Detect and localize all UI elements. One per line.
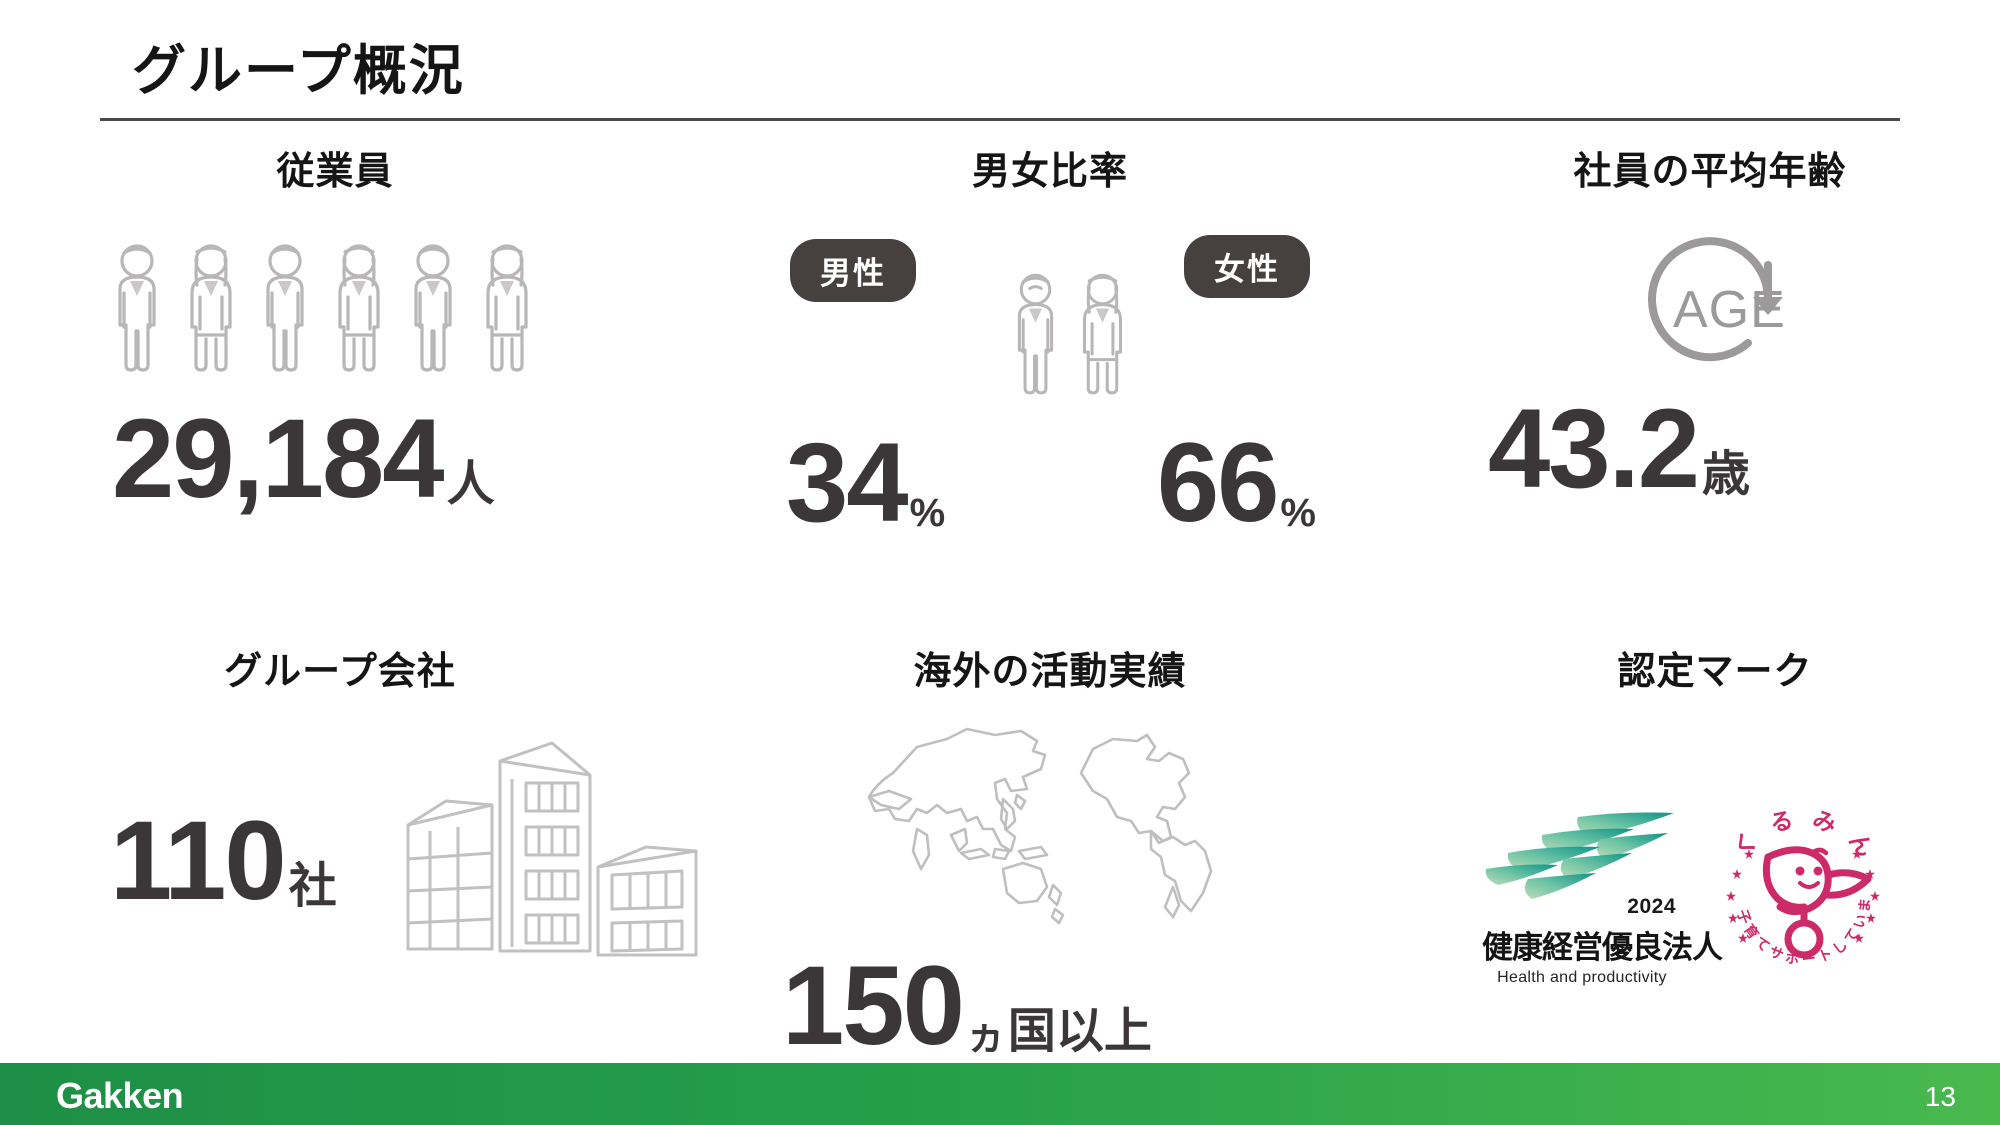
- svg-text:AGE: AGE: [1673, 281, 1786, 339]
- svg-text:くるみん: くるみん: [1728, 804, 1888, 875]
- person-male-icon: [404, 243, 462, 373]
- health-productivity-mark: 2024 健康経営優良法人 Health and productivity: [1482, 811, 1682, 987]
- male-value-group: 34 %: [786, 427, 943, 539]
- male-badge: 男性: [790, 239, 916, 302]
- average-age-unit: 歳: [1702, 451, 1750, 505]
- average-age-value: 43.2: [1488, 393, 1698, 505]
- slide-root: グループ概況 従業員: [0, 0, 2000, 1125]
- footer-bar: Gakken 13: [0, 1063, 2000, 1125]
- gender-ratio-heading: 男女比率: [972, 151, 1128, 193]
- group-companies-body: 110 社: [100, 717, 720, 967]
- person-male-icon: [256, 243, 314, 373]
- female-badge: 女性: [1184, 235, 1310, 298]
- age-icon-svg: AGE: [1618, 235, 1803, 365]
- overseas-unit: 国以上: [1008, 1008, 1152, 1062]
- metric-average-age: 社員の平均年齢 AGE 43.2 歳: [1470, 140, 1950, 505]
- metric-group-companies: グループ会社: [100, 640, 720, 967]
- gender-figures-area: 男性 女性: [760, 229, 1340, 419]
- person-female-icon: [182, 243, 240, 373]
- person-male-icon: [1008, 269, 1063, 401]
- gakken-logo: Gakken: [56, 1075, 183, 1117]
- health-mark-name-jp: 健康経営優良法人: [1482, 922, 1682, 967]
- person-female-icon: [330, 243, 388, 373]
- people-group-icon: [108, 243, 660, 373]
- metric-employees: 従業員: [100, 140, 660, 515]
- employees-value-group: 29,184 人: [112, 403, 660, 515]
- certifications-heading-wrap: 認定マーク: [1599, 640, 1830, 701]
- group-companies-value: 110: [110, 805, 285, 917]
- overseas-heading-wrap: 海外の活動実績: [895, 640, 1204, 701]
- page-number: 13: [1925, 1081, 1956, 1113]
- employees-unit: 人: [447, 461, 495, 515]
- age-circular-arrow-icon: AGE: [1470, 235, 1950, 365]
- overseas-value: 150: [782, 950, 963, 1062]
- group-companies-value-group: 110 社: [110, 805, 337, 917]
- metric-gender-ratio: 男女比率 男性 女性: [760, 140, 1340, 539]
- group-companies-unit: 社: [289, 863, 337, 917]
- person-male-icon: [108, 243, 166, 373]
- overseas-unit-counter: ヵ: [966, 1016, 1004, 1062]
- average-age-value-group: 43.2 歳: [1488, 393, 1950, 505]
- metric-overseas: 海外の活動実績: [760, 640, 1340, 1062]
- overseas-heading: 海外の活動実績: [913, 651, 1186, 693]
- certification-marks-row: 2024 健康経営優良法人 Health and productivity くる…: [1482, 797, 1960, 987]
- male-unit: %: [910, 493, 944, 539]
- employees-value: 29,184: [112, 403, 443, 515]
- employees-heading-wrap: 従業員: [258, 140, 411, 201]
- gender-ratio-heading-wrap: 男女比率: [954, 140, 1146, 201]
- person-female-icon: [1075, 269, 1130, 401]
- kurumin-mark: くるみん 子育てサポートしています: [1708, 797, 1898, 987]
- kurumin-baby-bird-logo: くるみん 子育てサポートしています: [1708, 797, 1898, 987]
- female-unit: %: [1280, 493, 1314, 539]
- employees-heading: 従業員: [276, 151, 393, 193]
- page-title: グループ概況: [132, 26, 465, 105]
- group-companies-heading-wrap: グループ会社: [206, 640, 474, 701]
- average-age-heading-wrap: 社員の平均年齢: [1555, 140, 1864, 201]
- title-divider: [100, 118, 1900, 121]
- gender-values-row: 34 % 66 %: [760, 427, 1340, 539]
- person-female-icon: [478, 243, 536, 373]
- metric-certifications: 認定マーク: [1470, 640, 1960, 987]
- health-mark-name-en: Health and productivity: [1482, 969, 1682, 987]
- female-value-group: 66 %: [1157, 427, 1314, 539]
- overseas-value-group: 150 ヵ 国以上: [782, 950, 1340, 1062]
- health-mark-year: 2024: [1627, 895, 1676, 919]
- buildings-icon: [400, 739, 710, 969]
- world-map-icon: [760, 725, 1340, 930]
- certifications-heading: 認定マーク: [1617, 651, 1812, 693]
- female-value: 66: [1157, 427, 1278, 539]
- male-female-pair-icon: [1008, 269, 1130, 401]
- average-age-heading: 社員の平均年齢: [1573, 151, 1846, 193]
- group-companies-heading: グループ会社: [224, 651, 456, 693]
- world-map-svg: [855, 725, 1245, 930]
- male-value: 34: [786, 427, 907, 539]
